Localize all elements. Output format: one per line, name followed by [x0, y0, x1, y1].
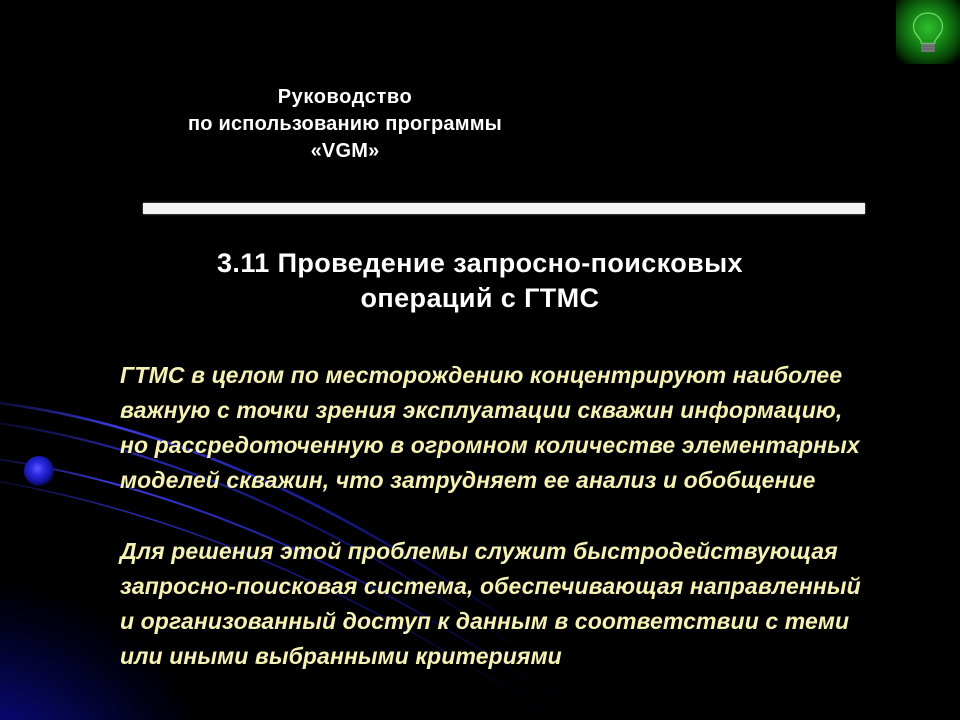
- horizontal-divider: [143, 203, 865, 214]
- header-line-1: Руководство: [40, 84, 650, 111]
- paragraph-2-line-4: или иными выбранными критериями: [120, 639, 920, 674]
- slide-title-line-2: операций с ГТМС: [120, 281, 840, 316]
- paragraph-1-line-1: ГТМС в целом по месторождению концентрир…: [120, 358, 920, 393]
- header-line-3: «VGM»: [40, 138, 650, 165]
- paragraph-1-line-2: важную с точки зрения эксплуатации скваж…: [120, 393, 920, 428]
- paragraph-2-line-2: запросно-поисковая система, обеспечивающ…: [120, 569, 920, 604]
- paragraph-1-line-3: но рассредоточенную в огромном количеств…: [120, 428, 920, 463]
- body-paragraph-2: Для решения этой проблемы служит быстрод…: [120, 534, 920, 674]
- paragraph-2-line-3: и организованный доступ к данным в соотв…: [120, 604, 920, 639]
- paragraph-2-line-1: Для решения этой проблемы служит быстрод…: [120, 534, 920, 569]
- presentation-slide: Руководство по использованию программы «…: [0, 0, 960, 720]
- paragraph-1-line-4: моделей скважин, что затрудняет ее анали…: [120, 463, 920, 498]
- glowing-bead: [24, 456, 54, 486]
- slide-body: ГТМС в целом по месторождению концентрир…: [120, 358, 920, 674]
- slide-title-line-1: 3.11 Проведение запросно-поисковых: [120, 246, 840, 281]
- lightbulb-icon: [896, 0, 960, 64]
- header-line-2: по использованию программы: [40, 111, 650, 138]
- document-header: Руководство по использованию программы «…: [40, 84, 650, 165]
- slide-title: 3.11 Проведение запросно-поисковых опера…: [120, 246, 840, 316]
- body-paragraph-1: ГТМС в целом по месторождению концентрир…: [120, 358, 920, 498]
- lightbulb-glyph: [896, 0, 960, 64]
